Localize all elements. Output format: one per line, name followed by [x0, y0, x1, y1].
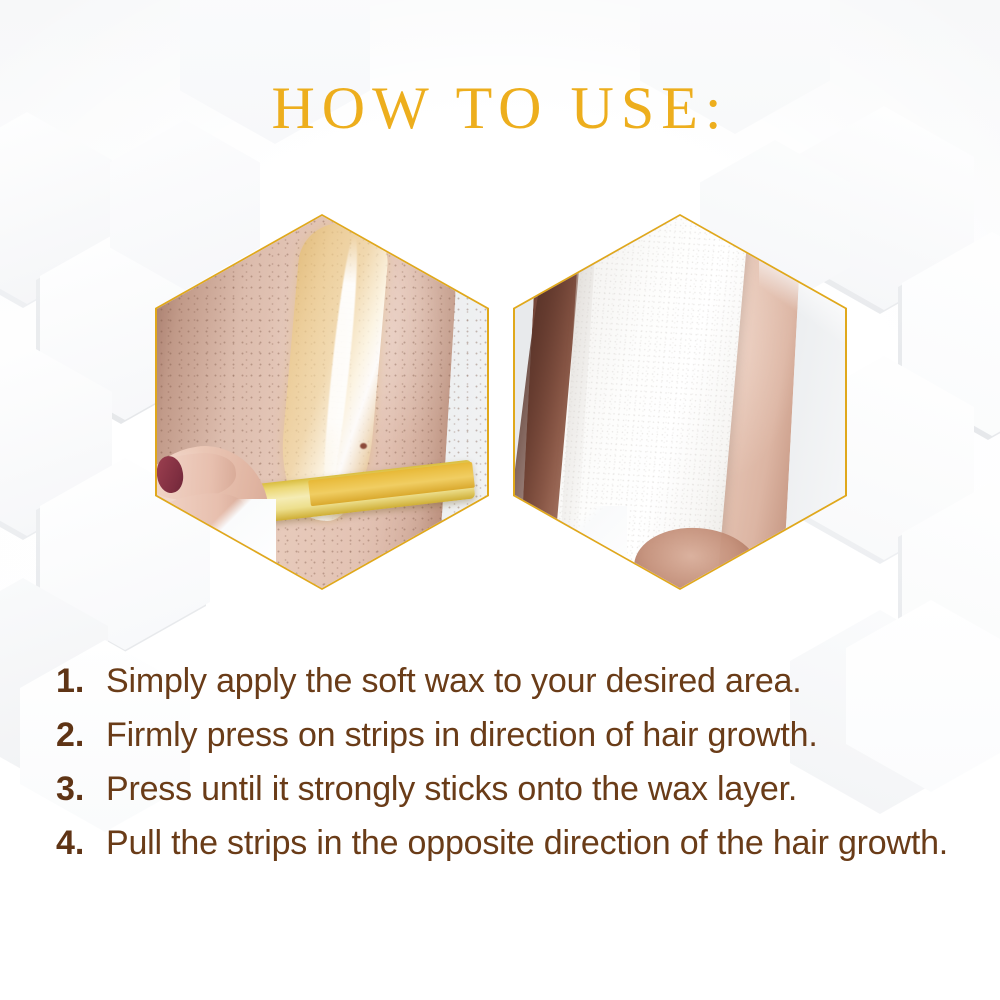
photo-corner-fade — [515, 506, 627, 588]
page-title: HOW TO USE: — [0, 78, 1000, 138]
how-to-use-infographic: HOW TO USE: — [0, 0, 1000, 1000]
skin-mole — [360, 443, 367, 449]
list-item: 4. Pull the strips in the opposite direc… — [56, 817, 956, 869]
wax-application-photo — [155, 214, 489, 590]
step-text: Simply apply the soft wax to your desire… — [106, 655, 956, 707]
step-number: 2. — [56, 709, 106, 761]
step-text: Firmly press on strips in direction of h… — [106, 709, 956, 761]
step-number: 4. — [56, 817, 106, 869]
list-item: 3. Press until it strongly sticks onto t… — [56, 763, 956, 815]
list-item: 2. Firmly press on strips in direction o… — [56, 709, 956, 761]
step-number: 1. — [56, 655, 106, 707]
step-text: Pull the strips in the opposite directio… — [106, 817, 956, 869]
photo-corner-fade — [157, 499, 276, 588]
step-number: 3. — [56, 763, 106, 815]
hexagon-photo-clip — [515, 216, 845, 588]
photo-corner-fade — [759, 216, 845, 342]
wax-strip-photo — [513, 214, 847, 590]
instruction-list: 1. Simply apply the soft wax to your des… — [56, 655, 956, 871]
hexagon-photo-clip — [157, 216, 487, 588]
list-item: 1. Simply apply the soft wax to your des… — [56, 655, 956, 707]
step-text: Press until it strongly sticks onto the … — [106, 763, 956, 815]
